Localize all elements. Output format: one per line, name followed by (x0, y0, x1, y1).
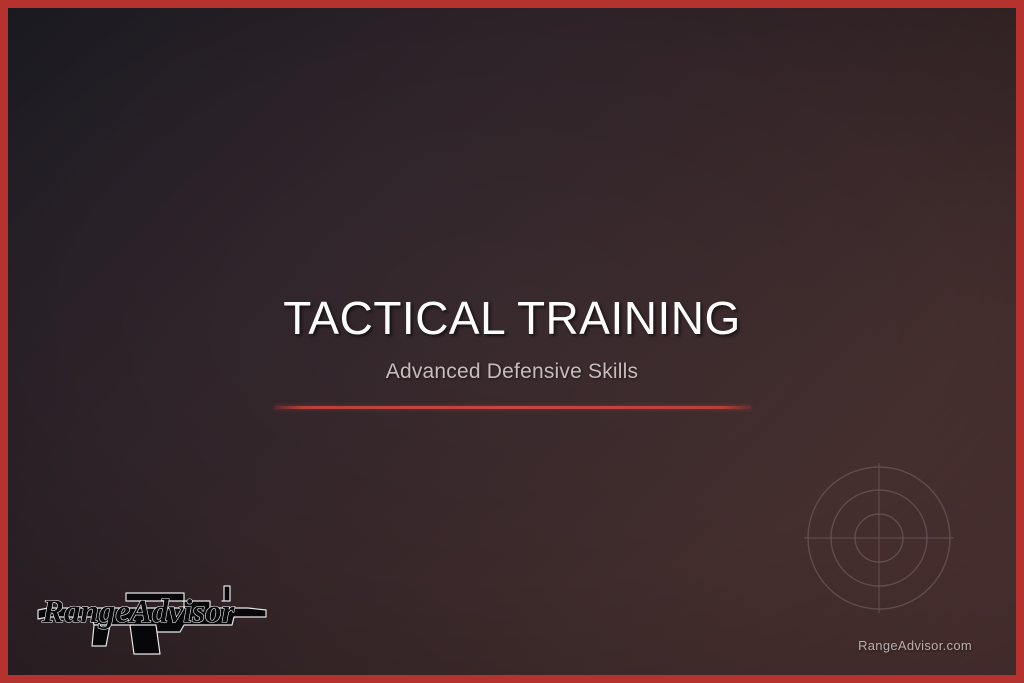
presentation-slide: TACTICAL TRAINING Advanced Defensive Ski… (0, 0, 1024, 683)
logo-wordmark: RangeAdvisor (41, 594, 236, 630)
rifle-logo-icon: RangeAdvisor (34, 570, 272, 656)
accent-divider (274, 406, 751, 409)
footer-url: RangeAdvisor.com (858, 638, 972, 653)
page-subtitle: Advanced Defensive Skills (8, 343, 1016, 384)
page-title: TACTICAL TRAINING (8, 294, 1016, 343)
title-block: TACTICAL TRAINING Advanced Defensive Ski… (8, 294, 1016, 409)
crosshair-reticle-icon (804, 463, 954, 613)
